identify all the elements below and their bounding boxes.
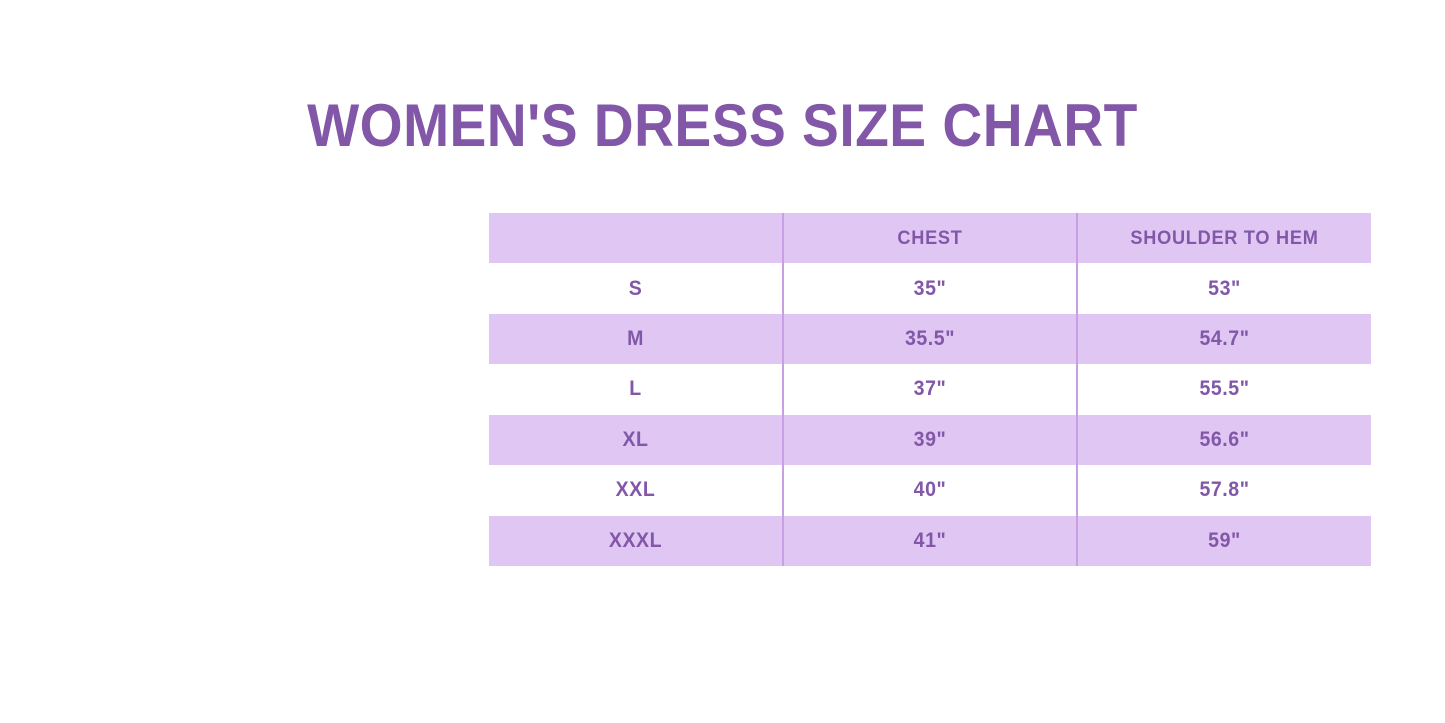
column-header-shoulder-to-hem-label: SHOULDER TO HEM	[1088, 227, 1360, 250]
cell-shoulder-to-hem: 54.7"	[1077, 314, 1371, 364]
shoulder-to-hem-value: 56.6"	[1088, 428, 1360, 452]
table-row: XXXL 41" 59"	[489, 516, 1371, 567]
cell-chest: 35"	[783, 263, 1077, 313]
table-header: CHEST SHOULDER TO HEM	[489, 213, 1371, 263]
table-row: M 35.5" 54.7"	[489, 314, 1371, 364]
chest-value: 40"	[794, 478, 1066, 502]
size-label: XXXL	[499, 529, 771, 553]
size-label: S	[499, 277, 771, 301]
cell-shoulder-to-hem: 55.5"	[1077, 364, 1371, 414]
column-header-chest-label: CHEST	[794, 227, 1066, 250]
cell-size: L	[489, 364, 783, 414]
cell-size: M	[489, 314, 783, 364]
chest-value: 35"	[794, 277, 1066, 301]
page-title: WOMEN'S DRESS SIZE CHART	[58, 94, 1387, 157]
size-chart-table: CHEST SHOULDER TO HEM S 35" 53	[489, 213, 1371, 566]
size-chart-page: WOMEN'S DRESS SIZE CHART CHEST SHOULDER …	[0, 0, 1445, 723]
size-label: L	[499, 377, 771, 401]
cell-shoulder-to-hem: 59"	[1077, 516, 1371, 567]
column-header-size	[489, 213, 783, 263]
size-table-container: CHEST SHOULDER TO HEM S 35" 53	[489, 213, 1371, 566]
column-header-shoulder-to-hem: SHOULDER TO HEM	[1077, 213, 1371, 263]
chest-value: 35.5"	[794, 327, 1066, 351]
cell-chest: 40"	[783, 465, 1077, 515]
size-label: XXL	[499, 478, 771, 502]
shoulder-to-hem-value: 54.7"	[1088, 327, 1360, 351]
cell-size: XL	[489, 415, 783, 465]
cell-shoulder-to-hem: 53"	[1077, 263, 1371, 313]
cell-size: XXL	[489, 465, 783, 515]
cell-chest: 41"	[783, 516, 1077, 567]
shoulder-to-hem-value: 57.8"	[1088, 478, 1360, 502]
table-row: XL 39" 56.6"	[489, 415, 1371, 465]
cell-size: S	[489, 263, 783, 313]
cell-chest: 39"	[783, 415, 1077, 465]
chest-value: 39"	[794, 428, 1066, 452]
table-body: S 35" 53" M 35.5"	[489, 263, 1371, 566]
table-row: XXL 40" 57.8"	[489, 465, 1371, 515]
table-row: S 35" 53"	[489, 263, 1371, 313]
cell-size: XXXL	[489, 516, 783, 567]
shoulder-to-hem-value: 59"	[1088, 529, 1360, 553]
chest-value: 41"	[794, 529, 1066, 553]
shoulder-to-hem-value: 53"	[1088, 277, 1360, 301]
cell-shoulder-to-hem: 57.8"	[1077, 465, 1371, 515]
chest-value: 37"	[794, 377, 1066, 401]
cell-chest: 35.5"	[783, 314, 1077, 364]
size-label: M	[499, 327, 771, 351]
cell-chest: 37"	[783, 364, 1077, 414]
cell-shoulder-to-hem: 56.6"	[1077, 415, 1371, 465]
table-row: L 37" 55.5"	[489, 364, 1371, 414]
column-header-chest: CHEST	[783, 213, 1077, 263]
size-label: XL	[499, 428, 771, 452]
shoulder-to-hem-value: 55.5"	[1088, 377, 1360, 401]
table-header-row: CHEST SHOULDER TO HEM	[489, 213, 1371, 263]
